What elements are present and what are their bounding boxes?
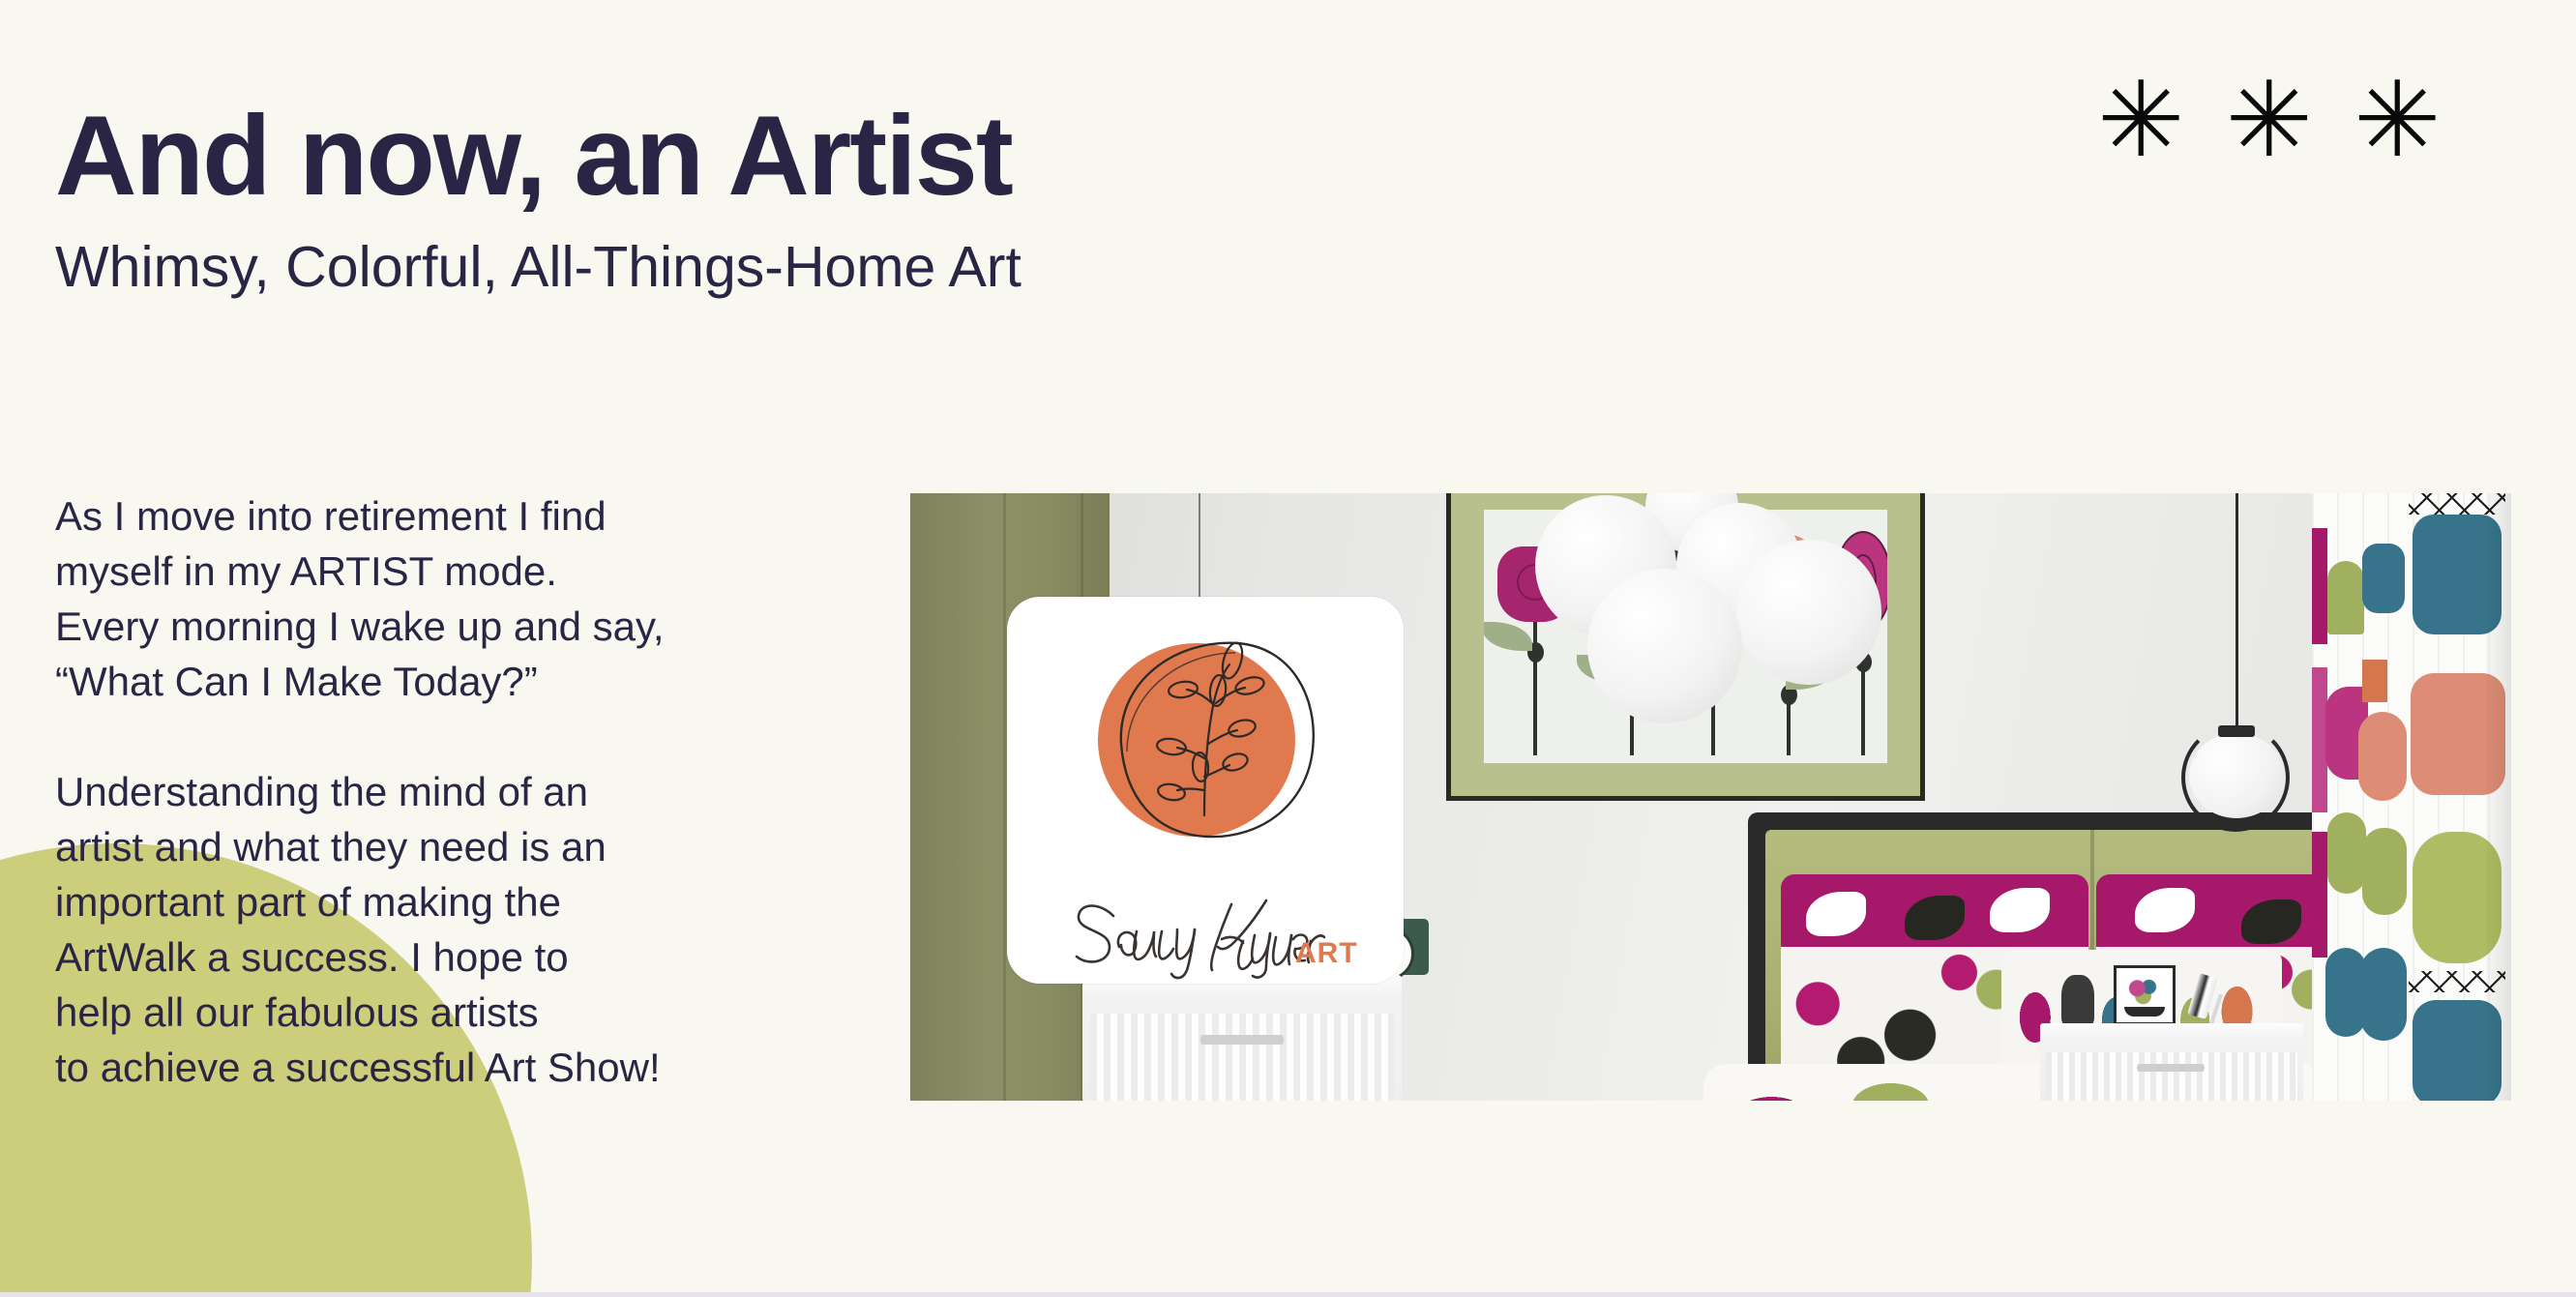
- photo-pendant-globe: [2189, 733, 2284, 818]
- body-line: artist and what they need is an: [55, 819, 887, 874]
- body-line: Every morning I wake up and say,: [55, 599, 887, 654]
- photo-curtain: [2312, 493, 2511, 1101]
- photo-figurine: [2061, 975, 2094, 1025]
- photo-nightstand-left-ribs: [1090, 1014, 1394, 1101]
- photo-nightstand-right-handle: [2137, 1064, 2205, 1072]
- photo-nightstand-left-handle: [1200, 1035, 1284, 1045]
- photo-pendant-cord: [2235, 493, 2238, 735]
- curtain-fold-edge: [2486, 493, 2511, 1101]
- body-line: myself in my ARTIST mode.: [55, 544, 887, 599]
- photo-nightstand-right-ribs: [2046, 1052, 2297, 1101]
- body-line: “What Can I Make Today?”: [55, 654, 887, 709]
- slide-root: ✳ ✳ ✳ And now, an Artist Whimsy, Colorfu…: [0, 0, 2576, 1297]
- body-text-block: As I move into retirement I find myself …: [55, 488, 887, 1095]
- asterisk-icon-2: ✳: [2226, 79, 2314, 162]
- body-line: help all our fabulous artists: [55, 985, 887, 1040]
- body-line: Understanding the mind of an: [55, 764, 887, 819]
- bottom-divider: [0, 1292, 2576, 1297]
- sandy-younger-art-logo-card: ART: [1007, 597, 1404, 984]
- asterisk-icon-3: ✳: [2354, 79, 2442, 162]
- heading-block: And now, an Artist Whimsy, Colorful, All…: [55, 97, 1022, 302]
- body-line: to achieve a successful Art Show!: [55, 1040, 887, 1095]
- photo-pendant-cap: [2218, 725, 2255, 737]
- paragraph-spacer: [55, 709, 887, 764]
- logo-artwork: ART: [1007, 597, 1404, 984]
- page-subtitle: Whimsy, Colorful, All-Things-Home Art: [55, 233, 1022, 302]
- asterisk-icon-1: ✳: [2097, 79, 2185, 162]
- logo-script-signature: [1077, 900, 1324, 978]
- photo-mini-framed-print: [2114, 965, 2176, 1025]
- body-line: ArtWalk a success. I hope to: [55, 929, 887, 985]
- page-title: And now, an Artist: [55, 97, 1022, 216]
- photo-globe-light: [1587, 569, 1742, 723]
- asterisk-decoration: ✳ ✳ ✳: [2097, 79, 2442, 162]
- body-line: important part of making the: [55, 874, 887, 929]
- photo-globe-light: [1736, 540, 1881, 685]
- logo-art-text: ART: [1295, 937, 1358, 969]
- photo-mini-art-base: [2124, 1007, 2165, 1017]
- body-line: As I move into retirement I find: [55, 488, 887, 544]
